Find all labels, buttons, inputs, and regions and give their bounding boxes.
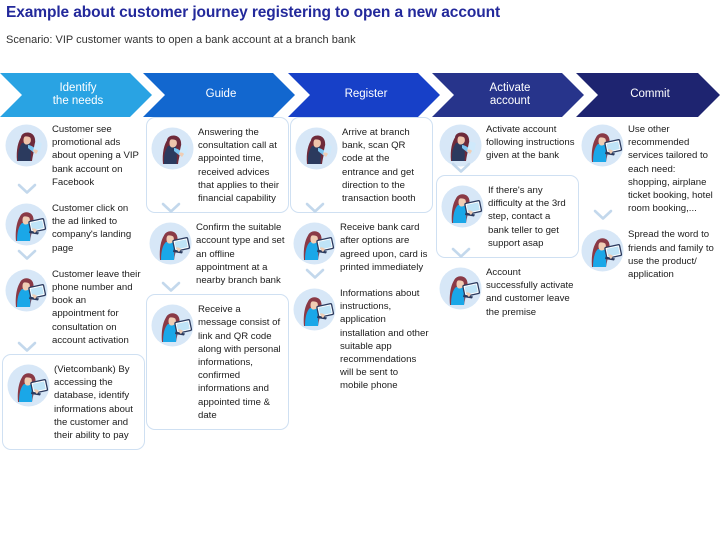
- journey-step-text: Answering the consultation call at appoi…: [198, 125, 282, 205]
- journey-step[interactable]: Use other recommended services tailored …: [578, 117, 720, 220]
- person-with-laptop-icon: [292, 221, 337, 266]
- chevron-down-icon: [290, 267, 433, 281]
- person-with-laptop-icon: [150, 303, 195, 348]
- chevron-down-icon: [578, 208, 720, 222]
- stage-header-row: Identify the needsGuideRegisterActivate …: [0, 73, 720, 117]
- person-with-phone-icon: [150, 126, 195, 171]
- stage-chevron-5[interactable]: Commit: [576, 73, 720, 117]
- person-with-laptop-icon: [4, 268, 49, 313]
- page-subtitle: Scenario: VIP customer wants to open a b…: [6, 34, 356, 46]
- journey-step-text: Customer see promotional ads about openi…: [52, 122, 141, 189]
- stage-label: Activate account: [476, 82, 541, 109]
- journey-step[interactable]: Receive a message consist of link and QR…: [146, 294, 289, 430]
- journey-step[interactable]: (Vietcombank) By accessing the database,…: [2, 354, 145, 450]
- person-with-laptop-icon: [4, 202, 49, 247]
- chevron-down-icon: [436, 246, 579, 260]
- customer-journey-diagram: Example about customer journey registeri…: [0, 0, 720, 553]
- chevron-down-icon: [146, 201, 289, 215]
- person-with-laptop-icon: [148, 221, 193, 266]
- journey-step-text: Informations about instructions, applica…: [340, 286, 429, 393]
- person-with-laptop-icon: [580, 228, 625, 273]
- journey-step[interactable]: Informations about instructions, applica…: [290, 281, 433, 398]
- stage-label: Register: [331, 88, 398, 102]
- journey-column-commit: Use other recommended services tailored …: [578, 117, 720, 286]
- stage-chevron-2[interactable]: Guide: [143, 73, 295, 117]
- chevron-down-icon: [290, 201, 433, 215]
- journey-step-text: If there's any difficulty at the 3rd ste…: [488, 183, 572, 250]
- journey-step-text: Receive a message consist of link and QR…: [198, 302, 282, 422]
- journey-step[interactable]: Customer leave their phone number and bo…: [2, 262, 145, 352]
- journey-step[interactable]: Arrive at branch bank, scan QR code at t…: [290, 117, 433, 213]
- journey-step-text: Account successfully activate and custom…: [486, 265, 575, 319]
- journey-step-text: Use other recommended services tailored …: [628, 122, 717, 215]
- journey-columns: Customer see promotional ads about openi…: [0, 117, 720, 553]
- person-with-laptop-icon: [580, 123, 625, 168]
- journey-step-text: Receive bank card after options are agre…: [340, 220, 429, 274]
- person-with-laptop-icon: [6, 363, 51, 408]
- stage-label: Commit: [616, 88, 680, 102]
- journey-column-activate-account: Activate account following instructions …: [436, 117, 579, 324]
- journey-step[interactable]: Spread the word to friends and family to…: [578, 222, 720, 286]
- page-title: Example about customer journey registeri…: [6, 4, 500, 22]
- stage-chevron-3[interactable]: Register: [288, 73, 440, 117]
- journey-step-text: Customer leave their phone number and bo…: [52, 267, 141, 347]
- chevron-down-icon: [2, 248, 145, 262]
- person-with-laptop-icon: [440, 184, 485, 229]
- journey-step-text: Confirm the suitable account type and se…: [196, 220, 285, 287]
- journey-step-text: Activate account following instructions …: [486, 122, 575, 163]
- journey-step-text: Customer click on the ad linked to compa…: [52, 201, 141, 255]
- journey-column-register: Arrive at branch bank, scan QR code at t…: [290, 117, 433, 398]
- person-with-phone-icon: [294, 126, 339, 171]
- journey-step[interactable]: Account successfully activate and custom…: [436, 260, 579, 324]
- stage-chevron-4[interactable]: Activate account: [432, 73, 584, 117]
- journey-step[interactable]: Answering the consultation call at appoi…: [146, 117, 289, 213]
- stage-label: Guide: [192, 88, 247, 102]
- journey-column-guide: Answering the consultation call at appoi…: [146, 117, 289, 430]
- chevron-down-icon: [436, 161, 579, 175]
- person-with-laptop-icon: [292, 287, 337, 332]
- chevron-down-icon: [146, 280, 289, 294]
- journey-step-text: Spread the word to friends and family to…: [628, 227, 717, 281]
- chevron-down-icon: [2, 182, 145, 196]
- chevron-down-icon: [2, 340, 145, 354]
- stage-chevron-1[interactable]: Identify the needs: [0, 73, 152, 117]
- person-with-phone-icon: [4, 123, 49, 168]
- journey-column-identify-the-needs: Customer see promotional ads about openi…: [2, 117, 145, 450]
- journey-step-text: Arrive at branch bank, scan QR code at t…: [342, 125, 426, 205]
- person-with-laptop-icon: [438, 266, 483, 311]
- stage-label: Identify the needs: [39, 82, 114, 109]
- journey-step-text: (Vietcombank) By accessing the database,…: [54, 362, 138, 442]
